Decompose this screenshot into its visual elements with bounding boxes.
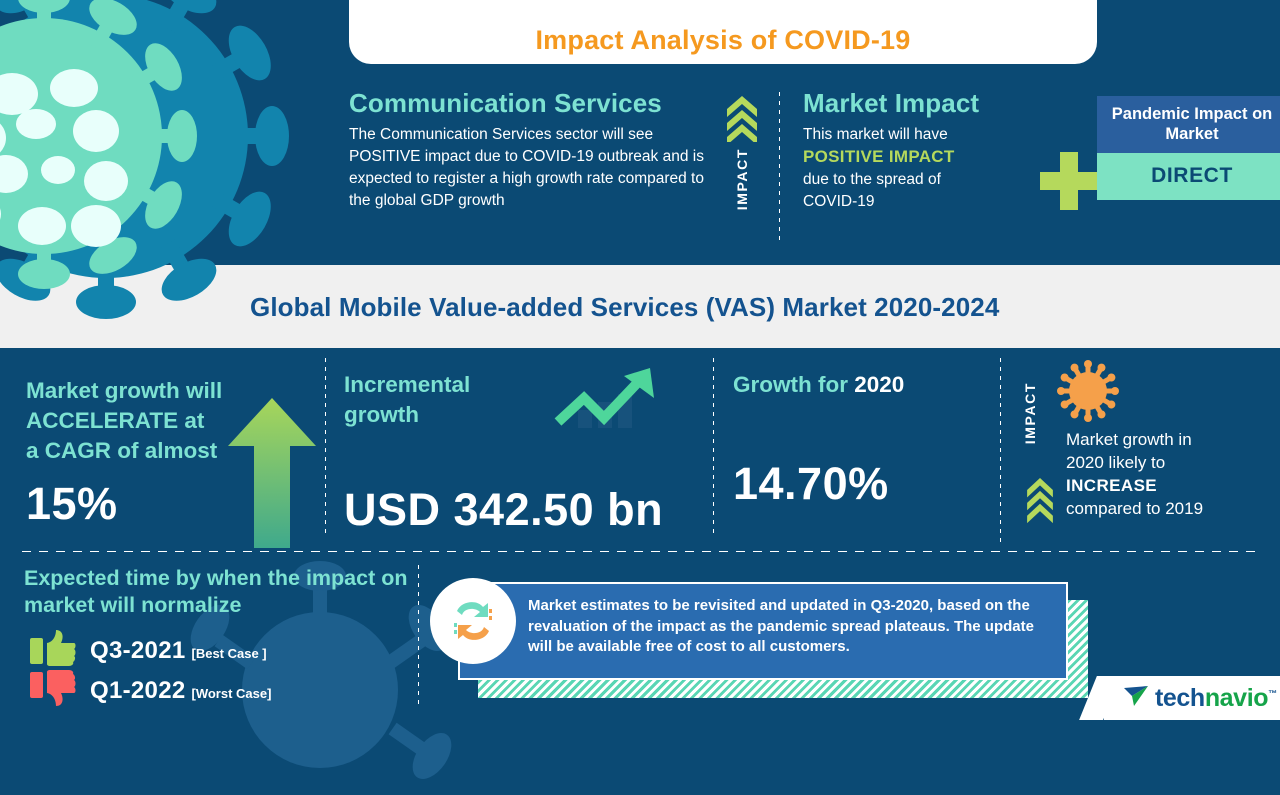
brand-name-part1: tech bbox=[1155, 684, 1205, 712]
communication-services-block: Communication Services The Communication… bbox=[349, 88, 717, 212]
growth2020-label: Growth for bbox=[733, 372, 854, 397]
impact2020-line1: Market growth in bbox=[1066, 430, 1192, 449]
cagr-label-line2: ACCELERATE at bbox=[26, 408, 204, 433]
best-case-note: [Best Case ] bbox=[192, 646, 267, 661]
growth2020-value: 14.70% bbox=[733, 458, 993, 510]
impact-indicator-right: IMPACT bbox=[1022, 382, 1056, 444]
impact2020-line2: 2020 likely to bbox=[1066, 453, 1165, 472]
impact-label-right: IMPACT bbox=[1022, 382, 1038, 444]
normalize-case-worst: Q1-2022[Worst Case] bbox=[30, 670, 271, 711]
up-arrow-icon bbox=[228, 398, 316, 548]
market-impact-line1: This market will have bbox=[803, 126, 948, 143]
cagr-label-line3: a CAGR of almost bbox=[26, 438, 217, 463]
normalize-case-best: Q3-2021[Best Case ] bbox=[30, 630, 267, 671]
incremental-value: USD 342.50 bn bbox=[344, 484, 704, 536]
note-text: Market estimates to be revisited and upd… bbox=[528, 597, 1034, 655]
note-box: Market estimates to be revisited and upd… bbox=[458, 582, 1068, 680]
thumbs-up-icon bbox=[30, 630, 76, 671]
worst-case-quarter: Q1-2022 bbox=[90, 677, 186, 704]
coronavirus-icon bbox=[1057, 360, 1119, 422]
brand-name-part2: navio bbox=[1205, 684, 1268, 712]
impact2020-highlight: INCREASE bbox=[1066, 476, 1157, 495]
market-impact-highlight: POSITIVE IMPACT bbox=[803, 147, 955, 166]
paper-plane-icon bbox=[1122, 684, 1150, 713]
growth-chart-icon bbox=[554, 366, 668, 436]
market-impact-line2: due to the spread of bbox=[803, 171, 941, 188]
incremental-label-line2: growth bbox=[344, 402, 419, 427]
horizontal-divider bbox=[22, 551, 1258, 552]
pandemic-panel-header: Pandemic Impact on Market bbox=[1097, 96, 1280, 153]
top-divider bbox=[779, 92, 780, 244]
report-title: Global Mobile Value-added Services (VAS)… bbox=[250, 292, 999, 323]
incremental-label-line1: Incremental bbox=[344, 372, 470, 397]
communication-body: The Communication Services sector will s… bbox=[349, 124, 717, 212]
brand-tm: ™ bbox=[1268, 689, 1277, 699]
market-impact-heading: Market Impact bbox=[803, 88, 1083, 119]
communication-heading: Communication Services bbox=[349, 88, 717, 119]
worst-case-note: [Worst Case] bbox=[192, 686, 272, 701]
metric-divider-2 bbox=[713, 358, 714, 538]
best-case-quarter: Q3-2021 bbox=[90, 637, 186, 664]
pandemic-impact-panel: Pandemic Impact on Market DIRECT bbox=[1097, 96, 1280, 200]
market-impact-line3: COVID-19 bbox=[803, 193, 875, 210]
cagr-label-line1: Market growth will bbox=[26, 378, 222, 403]
metric-divider-3 bbox=[1000, 358, 1001, 543]
refresh-cycle-icon bbox=[430, 578, 516, 664]
pandemic-panel-value: DIRECT bbox=[1097, 153, 1280, 200]
technavio-logo[interactable]: technavio™ bbox=[1122, 684, 1277, 713]
thumbs-down-icon bbox=[30, 670, 76, 711]
impact2020-line3: compared to 2019 bbox=[1066, 499, 1203, 518]
metric-growth-2020: Growth for 2020 14.70% bbox=[733, 370, 993, 510]
impact-label-top: IMPACT bbox=[734, 148, 750, 210]
normalize-heading: Expected time by when the impact on mark… bbox=[24, 565, 424, 619]
plus-icon bbox=[1040, 152, 1098, 210]
page-title: Impact Analysis of COVID-19 bbox=[535, 25, 910, 56]
double-chevron-up-icon bbox=[727, 96, 757, 142]
impact-2020-text: Market growth in 2020 likely to INCREASE… bbox=[1066, 428, 1280, 520]
double-chevron-up-icon-right bbox=[1026, 478, 1054, 529]
growth2020-year: 2020 bbox=[854, 372, 904, 397]
impact-indicator-top: IMPACT bbox=[722, 96, 762, 246]
header-title-pill: Impact Analysis of COVID-19 bbox=[349, 0, 1097, 64]
infographic-root: Impact Analysis of COVID-19 Communicatio… bbox=[0, 0, 1280, 720]
